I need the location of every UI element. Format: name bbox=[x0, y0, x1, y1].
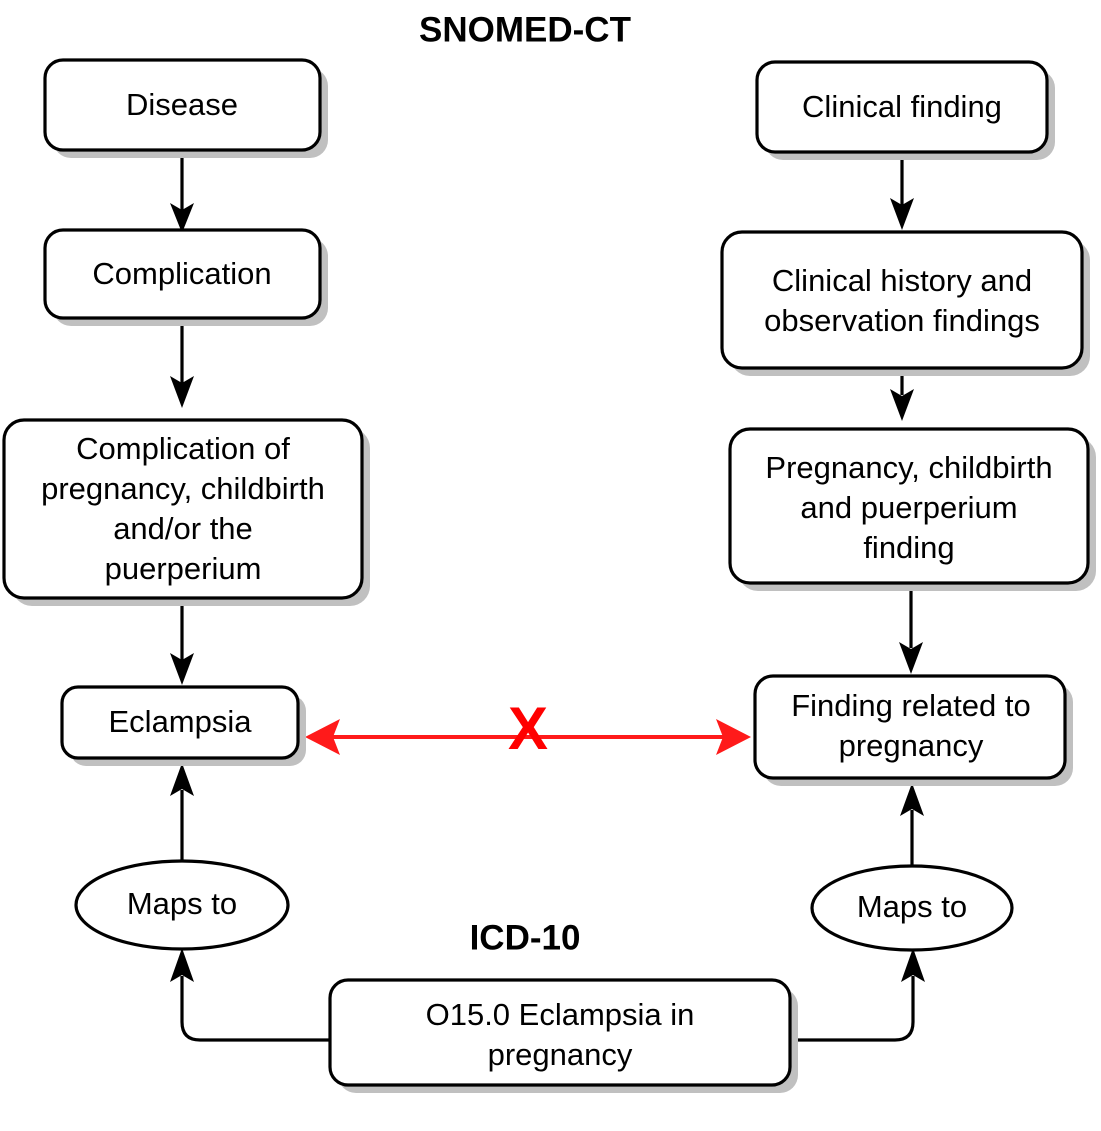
node-pregnancy-finding-line1: Pregnancy, childbirth bbox=[765, 450, 1052, 485]
node-finding-related-line2: pregnancy bbox=[839, 728, 984, 763]
node-complication-of-pregnancy-line3: and/or the bbox=[113, 511, 253, 546]
node-icd-code[interactable]: O15.0 Eclampsia in pregnancy bbox=[330, 980, 798, 1093]
node-finding-related-line1: Finding related to bbox=[791, 688, 1031, 723]
node-pregnancy-finding-line2: and puerperium bbox=[800, 490, 1017, 525]
node-maps-to-right[interactable]: Maps to bbox=[812, 866, 1012, 950]
node-complication-label: Complication bbox=[92, 256, 271, 291]
edge-maps-to-right-to-finding-related bbox=[900, 783, 924, 867]
node-complication[interactable]: Complication bbox=[45, 230, 328, 326]
edge-maps-to-left-to-eclampsia bbox=[170, 763, 194, 861]
mismatch-x-icon: X bbox=[508, 695, 548, 762]
page-title-snomed: SNOMED-CT bbox=[419, 10, 631, 49]
node-complication-of-pregnancy-line4: puerperium bbox=[105, 551, 262, 586]
node-clinical-history-line1: Clinical history and bbox=[772, 263, 1032, 298]
edge-icd-to-maps-to-left bbox=[170, 948, 330, 1040]
node-maps-to-left[interactable]: Maps to bbox=[76, 861, 288, 949]
diagram-canvas: SNOMED-CT ICD-10 Disease Complication Co… bbox=[0, 0, 1101, 1131]
node-complication-of-pregnancy-line2: pregnancy, childbirth bbox=[41, 471, 325, 506]
node-complication-of-pregnancy-line1: Complication of bbox=[76, 431, 290, 466]
edge-complication-of-pregnancy-to-eclampsia bbox=[170, 598, 194, 685]
edge-clinical-finding-to-clinical-history bbox=[890, 152, 914, 230]
node-maps-to-left-label: Maps to bbox=[127, 886, 237, 921]
node-clinical-history-box bbox=[722, 232, 1082, 368]
node-disease-label: Disease bbox=[126, 87, 238, 122]
node-disease[interactable]: Disease bbox=[45, 60, 328, 158]
node-clinical-history[interactable]: Clinical history and observation finding… bbox=[722, 232, 1090, 376]
edge-complication-to-complication-of-pregnancy bbox=[170, 318, 194, 408]
edge-pregnancy-finding-to-finding-related bbox=[899, 583, 923, 674]
node-pregnancy-finding[interactable]: Pregnancy, childbirth and puerperium fin… bbox=[730, 429, 1096, 591]
snomed-icd-mapping-diagram: SNOMED-CT ICD-10 Disease Complication Co… bbox=[0, 0, 1101, 1131]
node-complication-of-pregnancy[interactable]: Complication of pregnancy, childbirth an… bbox=[4, 420, 370, 606]
node-clinical-history-line2: observation findings bbox=[764, 303, 1040, 338]
node-eclampsia[interactable]: Eclampsia bbox=[62, 687, 306, 766]
edge-disease-to-complication bbox=[170, 150, 194, 233]
node-icd-code-line2: pregnancy bbox=[488, 1037, 633, 1072]
edge-icd-to-maps-to-right bbox=[790, 948, 925, 1040]
node-eclampsia-label: Eclampsia bbox=[109, 704, 253, 739]
node-icd-code-line1: O15.0 Eclampsia in bbox=[426, 997, 695, 1032]
node-clinical-finding-label: Clinical finding bbox=[802, 89, 1002, 124]
node-maps-to-right-label: Maps to bbox=[857, 889, 967, 924]
page-title-icd: ICD-10 bbox=[470, 918, 581, 957]
node-pregnancy-finding-line3: finding bbox=[863, 530, 954, 565]
node-finding-related-to-pregnancy[interactable]: Finding related to pregnancy bbox=[755, 676, 1073, 786]
node-clinical-finding[interactable]: Clinical finding bbox=[757, 62, 1055, 160]
